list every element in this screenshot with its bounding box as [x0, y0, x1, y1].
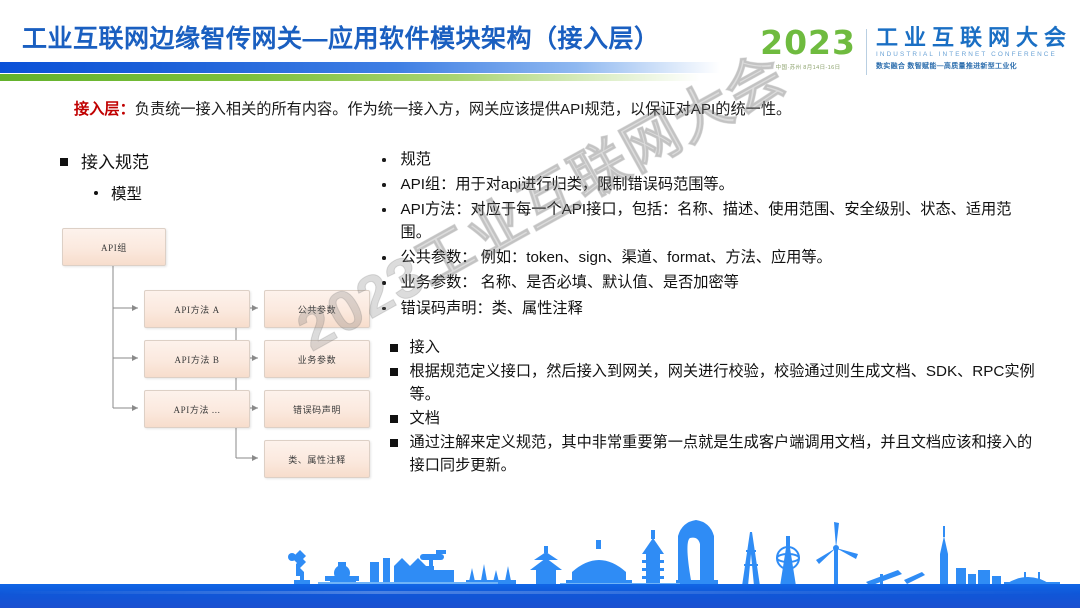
list-item: 规范 — [378, 148, 1038, 171]
diagram-node-api-method-a: API方法 A — [144, 290, 250, 328]
list-item-text: API组：用于对api进行归类，限制错误码范围等。 — [401, 173, 734, 196]
logo-tagline: 数实融合 数智赋能—高质量推进新型工业化 — [876, 61, 1072, 71]
dot-bullet-icon — [94, 191, 98, 195]
list-item-text: API方法：对应于每一个API接口，包括：名称、描述、使用范围、安全级别、状态、… — [401, 198, 1039, 244]
diagram-node-api-method-b: API方法 B — [144, 340, 250, 378]
lead-paragraph: 接入层：负责统一接入相关的所有内容。作为统一接入方，网关应该提供API规范，以保… — [74, 99, 1034, 122]
dot-bullet-icon — [382, 183, 386, 187]
header-green-bar — [0, 74, 700, 81]
diagram-node-business-params: 业务参数 — [264, 340, 370, 378]
diagram-node-annotations: 类、属性注释 — [264, 440, 370, 478]
dot-bullet-icon — [382, 208, 386, 212]
logo-year-block: 2023 中国·苏州 8月14日-16日 — [760, 26, 866, 71]
left-subheading-label: 模型 — [111, 182, 142, 204]
diagram-node-api-group: API组 — [62, 228, 166, 266]
square-bullet-icon — [390, 439, 398, 447]
dot-bullet-icon — [382, 158, 386, 162]
dot-bullet-icon — [382, 307, 386, 311]
diagram-node-public-params: 公共参数 — [264, 290, 370, 328]
list-item: API组：用于对api进行归类，限制错误码范围等。 — [378, 173, 1038, 196]
list-item: 错误码声明：类、属性注释 — [378, 297, 1038, 320]
list-item: API方法：对应于每一个API接口，包括：名称、描述、使用范围、安全级别、状态、… — [378, 198, 1038, 244]
spec-bullet-list: 规范 API组：用于对api进行归类，限制错误码范围等。 API方法：对应于每一… — [378, 148, 1038, 322]
list-item: 通过注解来定义规范，其中非常重要第一点就是生成客户端调用文档，并且文档应该和接入… — [390, 431, 1038, 477]
list-item-text: 业务参数： 名称、是否必填、默认值、是否加密等 — [401, 271, 739, 294]
logo-name-cn: 工业互联网大会 — [876, 26, 1072, 49]
list-item: 接入 — [390, 336, 1038, 359]
logo-date: 中国·苏州 8月14日-16日 — [776, 63, 841, 71]
square-bullet-icon — [390, 344, 398, 352]
left-heading: 接入规范 — [60, 152, 370, 174]
left-heading-label: 接入规范 — [81, 152, 149, 174]
list-item: 根据规范定义接口，然后接入到网关，网关进行校验，校验通过则生成文档、SDK、RP… — [390, 360, 1038, 406]
list-item-text: 接入 — [410, 336, 440, 359]
left-subheading: 模型 — [94, 182, 370, 204]
list-item-text: 文档 — [410, 407, 440, 430]
square-bullet-icon — [390, 368, 398, 376]
logo-divider — [866, 29, 867, 75]
left-column: 接入规范 模型 — [60, 152, 370, 204]
logo-name-block: 工业互联网大会 INDUSTRIAL INTERNET CONFERENCE 数… — [876, 26, 1072, 71]
slide-header: 工业互联网边缘智传网关—应用软件模块架构（接入层） 2023 中国·苏州 8月1… — [0, 0, 1080, 88]
dot-bullet-icon — [382, 281, 386, 285]
header-blue-bar — [0, 62, 720, 73]
slide: 工业互联网边缘智传网关—应用软件模块架构（接入层） 2023 中国·苏州 8月1… — [0, 0, 1080, 608]
list-item: 业务参数： 名称、是否必填、默认值、是否加密等 — [378, 271, 1038, 294]
list-item-text: 通过注解来定义规范，其中非常重要第一点就是生成客户端调用文档，并且文档应该和接入… — [410, 431, 1039, 477]
diagram-node-api-method-more: API方法 ... — [144, 390, 250, 428]
list-item: 公共参数： 例如：token、sign、渠道、format、方法、应用等。 — [378, 246, 1038, 269]
square-bullet-icon — [60, 158, 68, 166]
city-skyline-graphic — [0, 514, 1080, 586]
list-item-text: 公共参数： 例如：token、sign、渠道、format、方法、应用等。 — [401, 246, 832, 269]
list-item: 文档 — [390, 407, 1038, 430]
logo-year: 2023 — [760, 26, 856, 59]
diagram-node-error-codes: 错误码声明 — [264, 390, 370, 428]
list-item-text: 规范 — [401, 148, 431, 171]
footer-blue-band — [0, 584, 1080, 608]
list-item-text: 根据规范定义接口，然后接入到网关，网关进行校验，校验通过则生成文档、SDK、RP… — [410, 360, 1039, 406]
page-title: 工业互联网边缘智传网关—应用软件模块架构（接入层） — [22, 19, 660, 55]
footer-band-highlight — [0, 591, 1080, 594]
conference-logo: 2023 中国·苏州 8月14日-16日 工业互联网大会 INDUSTRIAL … — [760, 26, 1072, 75]
square-bullet-icon — [390, 415, 398, 423]
lead-body: 负责统一接入相关的所有内容。作为统一接入方，网关应该提供API规范，以保证对AP… — [135, 101, 791, 118]
list-item-text: 错误码声明：类、属性注释 — [401, 297, 583, 320]
logo-name-en: INDUSTRIAL INTERNET CONFERENCE — [876, 51, 1072, 58]
api-model-diagram: API组 API方法 A API方法 B API方法 ... 公共参数 业务参数… — [58, 228, 388, 493]
dot-bullet-icon — [382, 256, 386, 260]
access-bullet-list: 接入 根据规范定义接口，然后接入到网关，网关进行校验，校验通过则生成文档、SDK… — [390, 336, 1038, 479]
lead-label: 接入层： — [74, 101, 135, 118]
slide-footer — [0, 513, 1080, 608]
